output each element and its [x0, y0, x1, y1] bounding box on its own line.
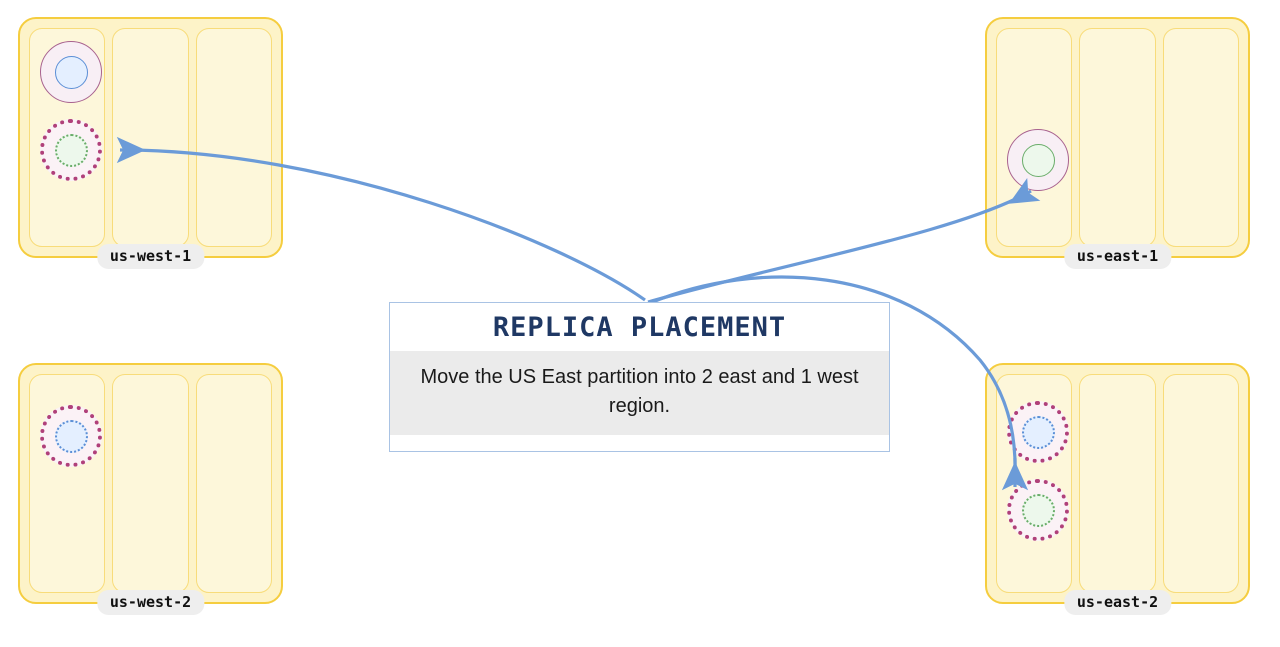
replica-marker-solid-green[interactable]: [1007, 129, 1069, 191]
replica-inner-green: [1022, 144, 1055, 177]
region-rack-us-west-2[interactable]: us-west-2: [18, 363, 283, 604]
diagram-canvas: us-west-1 us-east-1 us-west-2: [0, 0, 1280, 647]
rack-column-2[interactable]: [1079, 374, 1155, 593]
replica-marker-dotted-blue[interactable]: [40, 405, 102, 467]
replica-inner-blue: [55, 420, 88, 453]
replica-inner-green: [55, 134, 88, 167]
callout-title: REPLICA PLACEMENT: [390, 303, 889, 351]
rack-column-3[interactable]: [196, 28, 272, 247]
callout-body-text: Move the US East partition into 2 east a…: [390, 351, 889, 435]
region-label-us-east-1: us-east-1: [1064, 244, 1171, 269]
region-rack-us-east-1[interactable]: us-east-1: [985, 17, 1250, 258]
replica-inner-blue: [1022, 416, 1055, 449]
rack-column-1[interactable]: [29, 28, 105, 247]
rack-column-3[interactable]: [1163, 374, 1239, 593]
callout-panel: REPLICA PLACEMENT Move the US East parti…: [389, 302, 890, 452]
rack-column-1[interactable]: [996, 374, 1072, 593]
replica-marker-dotted-blue[interactable]: [1007, 401, 1069, 463]
arrow-to-us-east-1: [648, 191, 1031, 302]
replica-inner-blue: [55, 56, 88, 89]
replica-marker-dotted-green[interactable]: [40, 119, 102, 181]
rack-column-3[interactable]: [1163, 28, 1239, 247]
rack-column-2[interactable]: [112, 28, 188, 247]
rack-column-1[interactable]: [996, 28, 1072, 247]
rack-column-2[interactable]: [1079, 28, 1155, 247]
replica-inner-green: [1022, 494, 1055, 527]
region-label-us-west-2: us-west-2: [97, 590, 204, 615]
region-rack-us-east-2[interactable]: us-east-2: [985, 363, 1250, 604]
rack-column-2[interactable]: [112, 374, 188, 593]
replica-marker-solid-blue[interactable]: [40, 41, 102, 103]
rack-column-3[interactable]: [196, 374, 272, 593]
region-label-us-west-1: us-west-1: [97, 244, 204, 269]
rack-column-1[interactable]: [29, 374, 105, 593]
region-label-us-east-2: us-east-2: [1064, 590, 1171, 615]
replica-marker-dotted-green[interactable]: [1007, 479, 1069, 541]
region-rack-us-west-1[interactable]: us-west-1: [18, 17, 283, 258]
